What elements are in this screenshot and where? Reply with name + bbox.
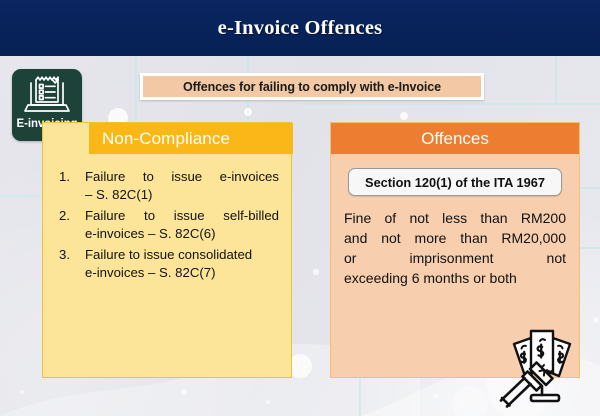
offences-banner-text: Offences for failing to comply with e-In… bbox=[183, 80, 441, 94]
list-item-line-1: Failure to issue self-billed bbox=[85, 207, 279, 225]
fine-line-2: and not more than RM20,000 bbox=[344, 229, 566, 249]
page-title: e-Invoice Offences bbox=[218, 17, 383, 40]
list-item: Failure to issue consolidated e-invoices… bbox=[49, 246, 279, 282]
offences-heading: Offences bbox=[421, 129, 489, 149]
offences-header: Offences bbox=[331, 123, 579, 154]
non-compliance-body: Failure to issue e-invoices – S. 82C(1) … bbox=[43, 154, 291, 377]
section-reference-text: Section 120(1) of the ITA 1967 bbox=[365, 175, 545, 190]
slide-title-bar: e-Invoice Offences bbox=[0, 0, 600, 56]
non-compliance-heading: Non-Compliance bbox=[89, 129, 230, 149]
list-item: Failure to issue e-invoices – S. 82C(1) bbox=[49, 168, 279, 204]
list-item-line-2: e-invoices – S. 82C(7) bbox=[85, 264, 279, 282]
list-item-line-1: Failure to issue e-invoices bbox=[85, 168, 279, 186]
fine-description: Fine of not less than RM200 and not more… bbox=[344, 209, 566, 289]
gavel-and-money-icon bbox=[494, 316, 590, 408]
non-compliance-list: Failure to issue e-invoices – S. 82C(1) … bbox=[49, 168, 279, 282]
offences-banner: Offences for failing to comply with e-In… bbox=[140, 73, 484, 100]
fine-line-4: exceeding 6 months or both bbox=[344, 269, 566, 289]
fine-line-3: or imprisonment not bbox=[344, 249, 566, 269]
slide-canvas: e-Invoice Offences E-invoicing Offences … bbox=[0, 0, 600, 416]
fine-line-1: Fine of not less than RM200 bbox=[344, 209, 566, 229]
list-item: Failure to issue self-billed e-invoices … bbox=[49, 207, 279, 243]
section-reference-chip: Section 120(1) of the ITA 1967 bbox=[348, 168, 562, 196]
invoice-laptop-icon bbox=[23, 74, 71, 116]
list-item-line-2: e-invoices – S. 82C(6) bbox=[85, 225, 279, 243]
non-compliance-panel: Non-Compliance Failure to issue e-invoic… bbox=[42, 122, 292, 378]
list-item-line-2: – S. 82C(1) bbox=[85, 186, 279, 204]
list-item-line-1: Failure to issue consolidated bbox=[85, 246, 279, 264]
non-compliance-header: Non-Compliance bbox=[89, 123, 293, 154]
